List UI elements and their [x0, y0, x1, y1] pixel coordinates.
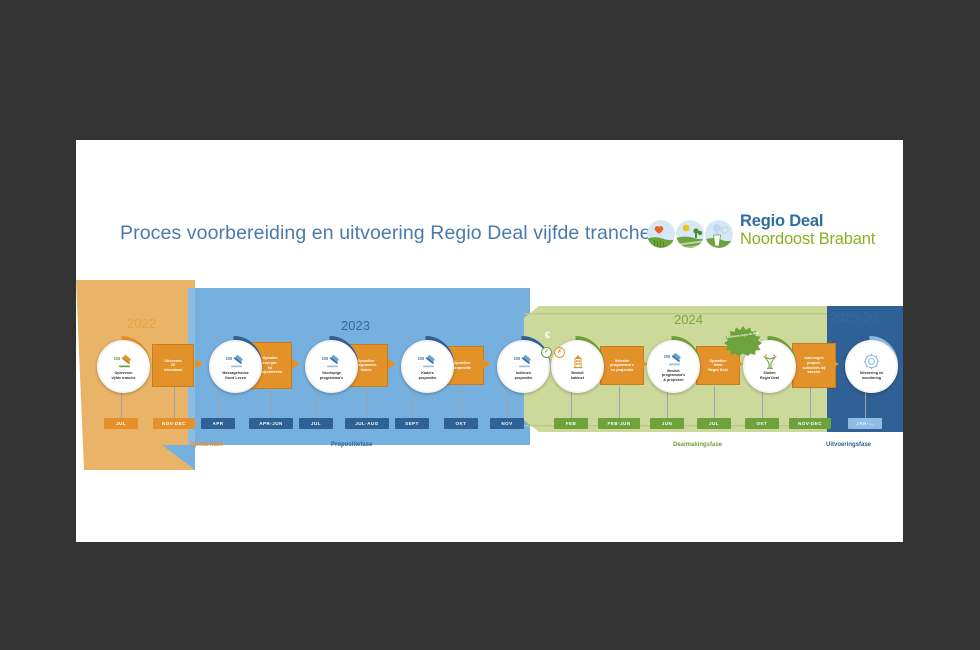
circle-node[interactable]: DB Opleverenvijfde tranche [97, 340, 150, 393]
chip-label: JAN-... [856, 421, 874, 426]
gear-icon [863, 353, 880, 370]
date-chip-nov-2023[interactable]: NOV [490, 418, 524, 429]
check-icon: ✓ [541, 347, 552, 358]
circle-label: Indienenpropositie [502, 371, 546, 380]
chip-label: NOV [501, 421, 512, 426]
chip-label: NOV-DEC [162, 421, 186, 426]
chip-label: JUL-AUG [355, 421, 379, 426]
timeline-steps: DB Opleverenvijfde tranche Uitvoeren20in… [76, 140, 903, 542]
chip-label: SEPT [405, 421, 419, 426]
svg-text:DB: DB [418, 356, 424, 361]
phase-label-dealmakingsfase: Dealmakingsfase [673, 442, 722, 448]
svg-text:DB: DB [226, 356, 232, 361]
government-building-icon [570, 353, 586, 370]
date-chip-apr-jun-2023[interactable]: APR-JUN [249, 418, 293, 429]
circle-label: Kaderspropositie [406, 371, 450, 380]
circle-node[interactable]: DB Voorlopigeprogramma's [305, 340, 358, 393]
circle-label: MessagehouseGoed Leven [214, 371, 258, 380]
circle-label: Uitvoering enmonitoring [850, 371, 894, 380]
circle-label: SluitenRegio Deal [748, 371, 792, 380]
gavel-icon: DB [417, 353, 439, 370]
date-chip-apr-2023[interactable]: APR [201, 418, 235, 429]
date-chip-jan-2025[interactable]: JAN-... [848, 418, 882, 429]
svg-text:DB: DB [664, 354, 670, 359]
chip-label: JUL [116, 421, 126, 426]
chip-label: OKT [455, 421, 466, 426]
date-chip-jul-2023[interactable]: JUL [299, 418, 333, 429]
circle-node[interactable]: DB Besluitprogramma's& projecten [647, 340, 700, 393]
euro-icon: € [545, 330, 550, 340]
chip-label: OKT [756, 421, 767, 426]
circle-node[interactable]: DB MessagehouseGoed Leven [209, 340, 262, 393]
svg-text:DB: DB [114, 356, 120, 361]
circle-label: Besluitprogramma's& projecten [652, 369, 696, 382]
chip-label: APR-JUN [259, 421, 283, 426]
chip-label: JUL [709, 421, 719, 426]
chip-label: APR [212, 421, 223, 426]
phase-label-opstartfase: Opstartfase [190, 442, 223, 448]
slide-canvas: Proces voorbereiding en uitvoering Regio… [76, 140, 903, 542]
date-chip-jul-2024[interactable]: JUL [697, 418, 731, 429]
chip-label: JUN [662, 421, 673, 426]
circle-label: Besluitkabinet [556, 371, 600, 380]
phase-label-propositiefase: Propositiefase [331, 442, 372, 448]
date-chip-okt-2023[interactable]: OKT [444, 418, 478, 429]
date-chip-jun-2024[interactable]: JUN [650, 418, 684, 429]
chip-label: JUL [311, 421, 321, 426]
gavel-icon: DB [113, 353, 135, 370]
chip-label: NOV-DEC [798, 421, 822, 426]
gavel-icon: DB [513, 353, 535, 370]
gavel-icon: DB [321, 353, 343, 370]
date-chip-nov-dec-2022[interactable]: NOV-DEC [153, 418, 195, 429]
gavel-icon: DB [225, 353, 247, 370]
circle-label: Voorlopigeprogramma's [310, 371, 354, 380]
date-chip-nov-dec-2024[interactable]: NOV-DEC [789, 418, 831, 429]
circle-node[interactable]: DB Kaderspropositie [401, 340, 454, 393]
circle-label: Opleverenvijfde tranche [102, 371, 146, 380]
partners-badge: Partners regio en Rijk [724, 326, 762, 356]
phase-label-uitvoeringsfase: Uitvoeringsfase [826, 442, 871, 448]
date-chip-sept-2023[interactable]: SEPT [395, 418, 429, 429]
handshake-toast-icon [761, 353, 779, 370]
svg-text:DB: DB [514, 356, 520, 361]
date-chip-feb-jun-2024[interactable]: FEB-JUN [598, 418, 640, 429]
cross-icon: ✗ [554, 347, 565, 358]
decision-marks: ✓✗ [541, 340, 567, 352]
date-chip-jul-2022[interactable]: JUL [104, 418, 138, 429]
circle-node[interactable]: Uitvoering enmonitoring [845, 340, 898, 393]
gavel-icon: DB [663, 351, 685, 368]
chip-label: FEB [566, 421, 577, 426]
date-chip-jul-aug-2023[interactable]: JUL-AUG [345, 418, 389, 429]
svg-text:DB: DB [322, 356, 328, 361]
date-chip-feb-2024[interactable]: FEB [554, 418, 588, 429]
date-chip-okt-2024[interactable]: OKT [745, 418, 779, 429]
chip-label: FEB-JUN [607, 421, 630, 426]
